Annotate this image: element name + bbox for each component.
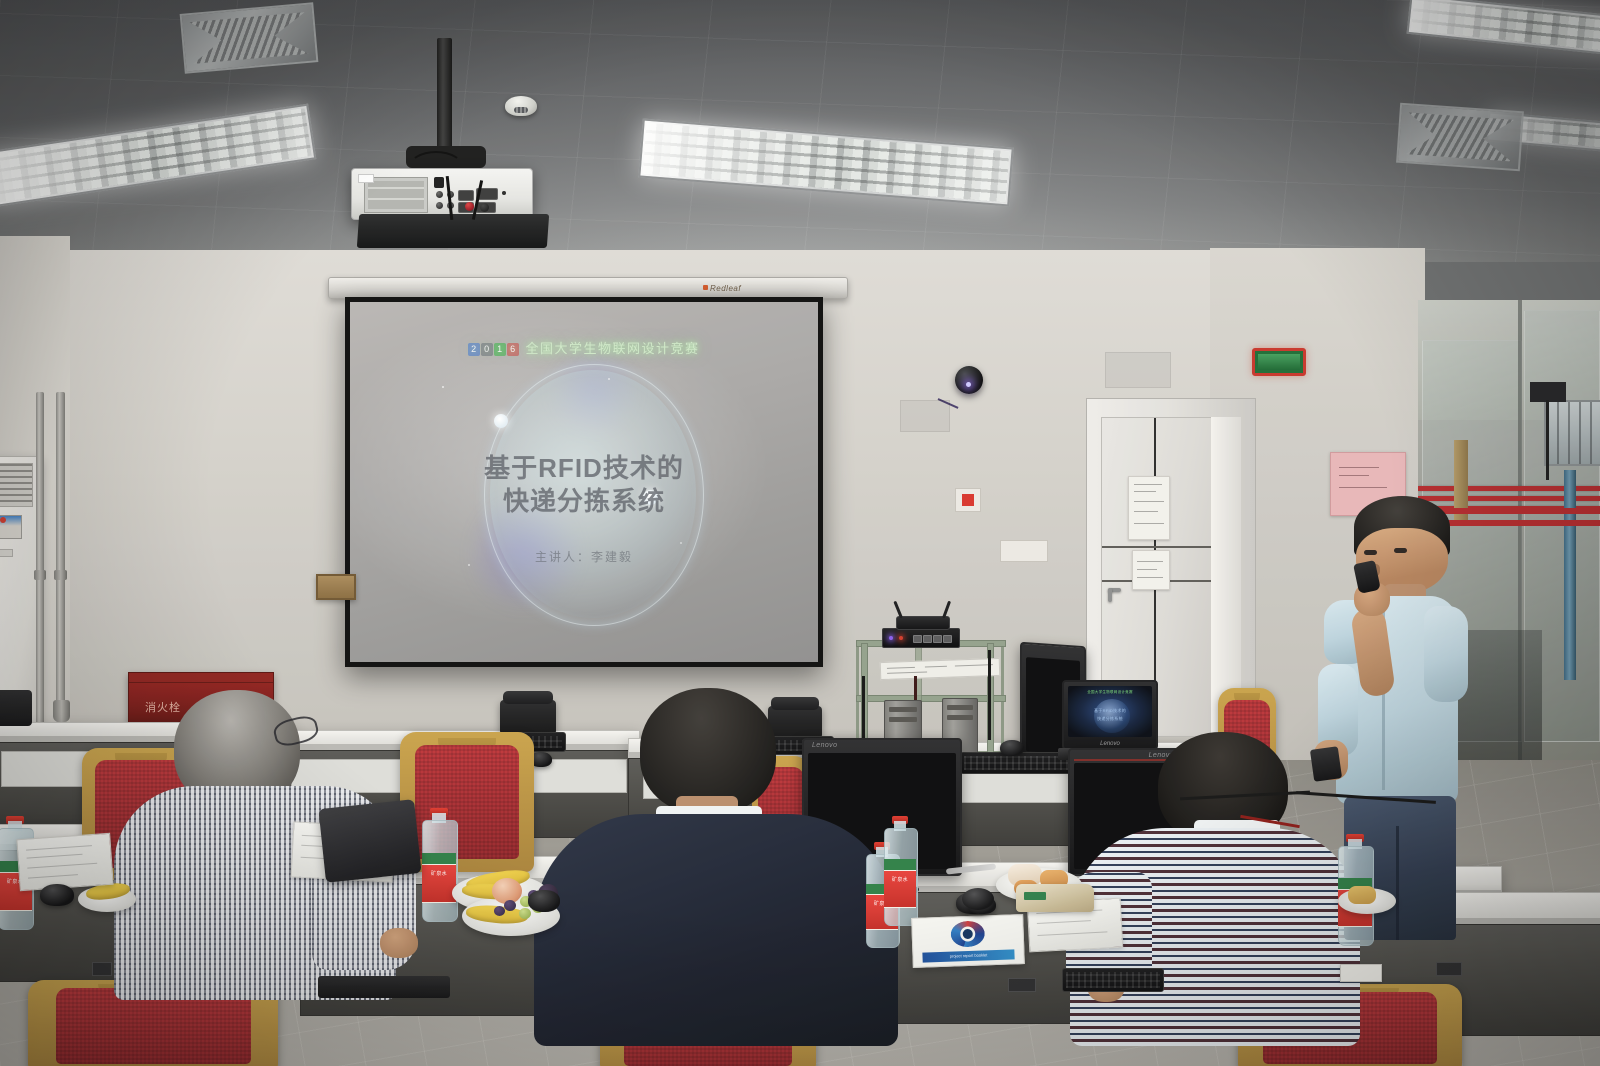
- mouse-back-2[interactable]: [1000, 740, 1024, 756]
- slide-header: 2016 全国大学生物联网设计竞赛: [350, 338, 818, 357]
- screen-brand-logo: Redleaf: [703, 284, 741, 293]
- water-bottle-2[interactable]: 矿泉水: [422, 808, 456, 920]
- slide-header-text: 全国大学生物联网设计竞赛: [526, 341, 700, 356]
- slide-year-digit-3: 1: [494, 343, 506, 356]
- ac-vent-grille: [0, 463, 33, 507]
- presentation-clicker[interactable]: [1310, 746, 1342, 782]
- wall-switch-plate: [955, 488, 981, 512]
- emergency-exit-sign: [1252, 348, 1306, 376]
- wall-pipe-2: [56, 392, 65, 722]
- projector-connector-block: [434, 177, 444, 188]
- far-window: [1544, 400, 1600, 466]
- project-report-booklet[interactable]: project report booklet: [911, 914, 1025, 968]
- ceiling-air-diffuser-1: [180, 2, 319, 73]
- smoke-detector: [505, 96, 537, 116]
- presenter-jeans-seam: [1396, 826, 1399, 940]
- slide-presenter-text: 主讲人：李建毅: [350, 548, 818, 565]
- ceiling-air-diffuser-2: [1396, 103, 1524, 172]
- mouse-front-left[interactable]: [40, 884, 74, 906]
- door-notice-2: [1132, 550, 1170, 590]
- ac-display: [0, 549, 13, 557]
- slide-year-digit-4: 6: [507, 343, 519, 356]
- name-card: [1340, 964, 1382, 982]
- pipe-base: [53, 700, 70, 722]
- wall-patch-2: [900, 400, 950, 432]
- projector-sticker: [358, 174, 374, 183]
- laptop-slide-header: 全国大学生物联网设计竞赛: [1068, 690, 1152, 695]
- wall-patch-3: [1105, 352, 1171, 388]
- keyboard-tray-left[interactable]: [318, 976, 450, 998]
- fruit-far-right: [1348, 886, 1376, 904]
- far-hanging-rod: [1546, 400, 1549, 480]
- presenter-eye-left: [1364, 550, 1377, 555]
- slide-title-line-1: 基于RFID技术的: [350, 452, 818, 485]
- wall-outlet-plate: [1000, 540, 1048, 562]
- ac-energy-label: [0, 515, 22, 539]
- presenter-sleeve-right: [1424, 606, 1468, 702]
- projection-screen: 2016 全国大学生物联网设计竞赛 基于RFID技术的 快递分拣系统 主讲人：李…: [345, 297, 823, 667]
- grape-green-3: [519, 908, 531, 919]
- laptop-slide-title-1: 基于RFID技术的: [1068, 708, 1152, 714]
- person-presenter: [1298, 496, 1478, 940]
- door-notice-1: [1128, 476, 1170, 540]
- water-bottle-4[interactable]: 矿泉水: [884, 816, 916, 924]
- grape-purple-2: [494, 906, 505, 916]
- desk-microphone-base: [962, 888, 994, 910]
- cart-cable-3: [988, 650, 991, 740]
- pipe-collar-1: [34, 570, 46, 580]
- projector-mount-pole: [437, 38, 452, 150]
- slide-title: 基于RFID技术的 快递分拣系统: [350, 452, 818, 519]
- slide-orb-node-1: [494, 414, 508, 428]
- keyboard-front-right[interactable]: [1062, 968, 1164, 992]
- slide-year-digit-1: 2: [468, 343, 480, 356]
- grape-purple-1: [504, 900, 516, 911]
- laptop-slide-title-2: 快递分拣系统: [1068, 716, 1152, 722]
- snack-bag: [1016, 884, 1094, 912]
- desk-phone-3[interactable]: [0, 690, 32, 726]
- chair-back-center[interactable]: [400, 732, 534, 872]
- papers-left[interactable]: [16, 833, 113, 891]
- judge-left-hand: [380, 928, 418, 958]
- wireless-router: [896, 616, 950, 630]
- screen-brand-text: Redleaf: [710, 284, 741, 293]
- wall-wood-plaque: [316, 574, 356, 600]
- blue-post: [1564, 470, 1576, 680]
- mouse-front-center-3[interactable]: [528, 890, 560, 912]
- projected-slide: 2016 全国大学生物联网设计竞赛 基于RFID技术的 快递分拣系统 主讲人：李…: [350, 302, 818, 662]
- dome-security-camera: [955, 366, 983, 394]
- wall-pipe-1: [36, 392, 44, 732]
- laptop-bag-left: [318, 799, 421, 883]
- presentation-room-photo: Redleaf 2016 全国大学生物联网设计竞赛 基于RFID技术的 快递分拣…: [0, 0, 1600, 1066]
- presenter-eye-right: [1394, 548, 1407, 553]
- desk-grommet-3: [1436, 962, 1462, 976]
- network-switch: [882, 628, 960, 648]
- booklet-band-text: project report booklet: [922, 951, 1015, 959]
- pipe-collar-2: [54, 570, 67, 580]
- person-judge-center: [524, 688, 904, 1046]
- far-wall-box: [1530, 382, 1566, 402]
- desk-grommet-2: [1008, 978, 1036, 992]
- slide-title-line-2: 快递分拣系统: [350, 485, 818, 518]
- bottle-label-2: 矿泉水: [422, 870, 456, 877]
- projection-screen-housing: Redleaf: [328, 277, 848, 299]
- ceiling-projector: [351, 168, 533, 220]
- judge-center-torso: [534, 814, 898, 1046]
- bottle-label-4: 矿泉水: [884, 876, 916, 883]
- laptop-screen: 全国大学生物联网设计竞赛 基于RFID技术的 快递分拣系统: [1068, 686, 1152, 737]
- slide-year-digit-2: 0: [481, 343, 493, 356]
